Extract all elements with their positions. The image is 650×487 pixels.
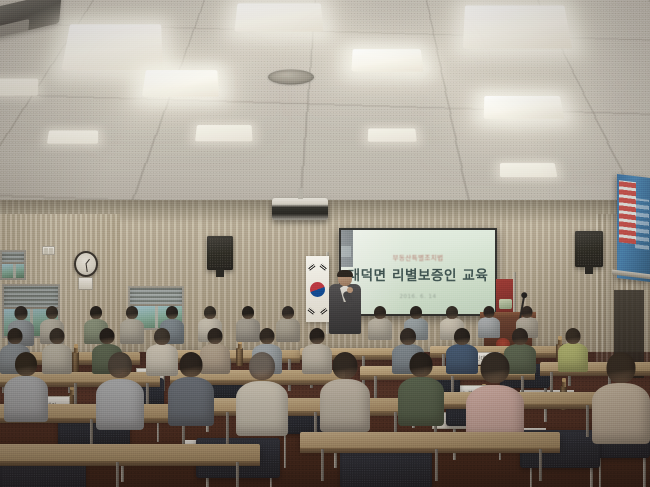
audience-member xyxy=(96,352,144,430)
table-leg xyxy=(236,462,239,487)
audience-member xyxy=(236,352,288,436)
table-leg xyxy=(321,449,324,481)
audience-head xyxy=(242,306,254,319)
window-far-left xyxy=(0,250,26,280)
audience-head xyxy=(333,352,358,379)
table xyxy=(0,444,260,462)
audience-head xyxy=(90,306,102,319)
presenter-hand xyxy=(347,287,353,293)
table-edge xyxy=(300,448,560,453)
slide-subtitle: 부동산특별조치법 xyxy=(341,252,495,262)
audience-head xyxy=(607,352,636,383)
ceiling-light-panel xyxy=(62,24,163,70)
chair-leg xyxy=(284,434,287,468)
table-leg xyxy=(116,462,119,487)
audience-head xyxy=(484,306,495,318)
audience-member xyxy=(168,352,214,426)
audience-head xyxy=(566,328,581,344)
window-blind xyxy=(130,288,182,306)
clock-minute-hand xyxy=(85,264,87,272)
audience-head xyxy=(374,306,386,319)
slide-title: 대덕면 리별보증인 교육 xyxy=(341,264,495,284)
audience-head xyxy=(260,328,275,344)
wall-speaker-left xyxy=(207,236,233,270)
ceiling xyxy=(0,0,650,224)
audience-torso xyxy=(320,379,370,432)
audience-torso xyxy=(4,376,48,422)
ceiling-light-panel xyxy=(463,5,572,48)
audience-member xyxy=(4,352,48,422)
audience-head xyxy=(126,306,138,319)
audience-member xyxy=(368,306,392,340)
presenter-hair xyxy=(337,270,353,277)
chair-leg xyxy=(590,468,593,487)
ceiling-light-panel xyxy=(47,131,98,144)
chair-leg xyxy=(206,478,209,487)
chair-mesh xyxy=(342,448,431,487)
taeguk-circle xyxy=(310,282,325,297)
wall-light-switch[interactable] xyxy=(42,246,55,255)
audience-head xyxy=(400,328,416,345)
ceiling-light-panel xyxy=(368,129,417,142)
audience-torso xyxy=(96,379,144,430)
ceiling-light-panel xyxy=(484,96,565,119)
ceiling-light-panel xyxy=(0,79,38,96)
audience-head xyxy=(410,352,433,377)
audience-member xyxy=(320,352,370,432)
audience-head xyxy=(481,352,510,383)
audience-head xyxy=(310,328,325,344)
audience-head xyxy=(108,352,132,378)
audience-member xyxy=(592,352,650,444)
window-glass xyxy=(2,264,24,278)
photo-scene: 부동산특별조치법 대덕면 리별보증인 교육 2016. 6. 14 남대리노분의… xyxy=(0,0,650,487)
banner-white-text-block xyxy=(635,198,649,250)
audience-head xyxy=(446,306,458,319)
table-leg xyxy=(586,405,589,437)
audience-member xyxy=(120,306,144,344)
ceiling-light-panel xyxy=(351,49,423,71)
presenter-with-microphone xyxy=(327,271,363,333)
audience-head xyxy=(100,328,115,344)
audience-head xyxy=(15,352,37,376)
audience-torso xyxy=(120,319,144,344)
audience-torso xyxy=(168,377,214,426)
audience-head xyxy=(282,306,294,319)
audience-head xyxy=(410,306,422,319)
chair-leg xyxy=(270,478,273,487)
projection-screen-surface: 부동산특별조치법 대덕면 리별보증인 교육 2016. 6. 14 xyxy=(341,230,495,314)
table xyxy=(300,432,560,449)
water-bottle xyxy=(72,352,79,372)
table-edge xyxy=(0,461,260,466)
ceiling-mounted-projector xyxy=(272,198,328,220)
audience-head xyxy=(249,352,275,380)
banner-red-text-block xyxy=(619,180,636,244)
audience-member xyxy=(558,328,588,372)
wall-mounted-box xyxy=(78,277,93,290)
ceiling-light-panel xyxy=(500,163,557,177)
ceiling-round-diffuser xyxy=(268,70,314,85)
vertical-wall-banner xyxy=(617,174,650,282)
audience-member xyxy=(398,352,444,426)
audience-head xyxy=(8,328,23,344)
audience-head xyxy=(204,306,216,319)
audience-torso xyxy=(236,381,288,436)
audience-head xyxy=(50,328,65,344)
korean-national-flag-taegukgi xyxy=(306,256,329,322)
audience-head xyxy=(180,352,203,377)
slide-date: 2016. 6. 14 xyxy=(341,294,495,300)
window-blind xyxy=(2,252,24,264)
chair-leg xyxy=(643,458,646,487)
audience-head xyxy=(46,306,58,319)
audience-head xyxy=(512,328,528,345)
audience-head xyxy=(166,306,178,319)
ceiling-light-panel xyxy=(142,70,219,97)
audience-head xyxy=(522,306,533,318)
audience-member xyxy=(478,306,500,338)
ceiling-light-panel xyxy=(195,125,252,141)
chair-leg xyxy=(530,468,533,487)
audience-torso xyxy=(478,317,500,338)
audience-head xyxy=(454,328,470,345)
table-leg xyxy=(539,449,542,481)
audience-torso xyxy=(368,318,392,340)
table-leg xyxy=(435,449,438,481)
wall-speaker-right xyxy=(575,231,603,267)
analog-wall-clock xyxy=(74,251,98,277)
ceiling-light-panel xyxy=(234,3,323,31)
audience-torso xyxy=(398,377,444,426)
audience-head xyxy=(208,328,223,344)
audience-torso xyxy=(592,383,650,444)
audience-torso xyxy=(558,343,588,372)
audience-head xyxy=(154,328,170,345)
audience-head xyxy=(15,306,28,320)
table-leg xyxy=(226,412,229,444)
